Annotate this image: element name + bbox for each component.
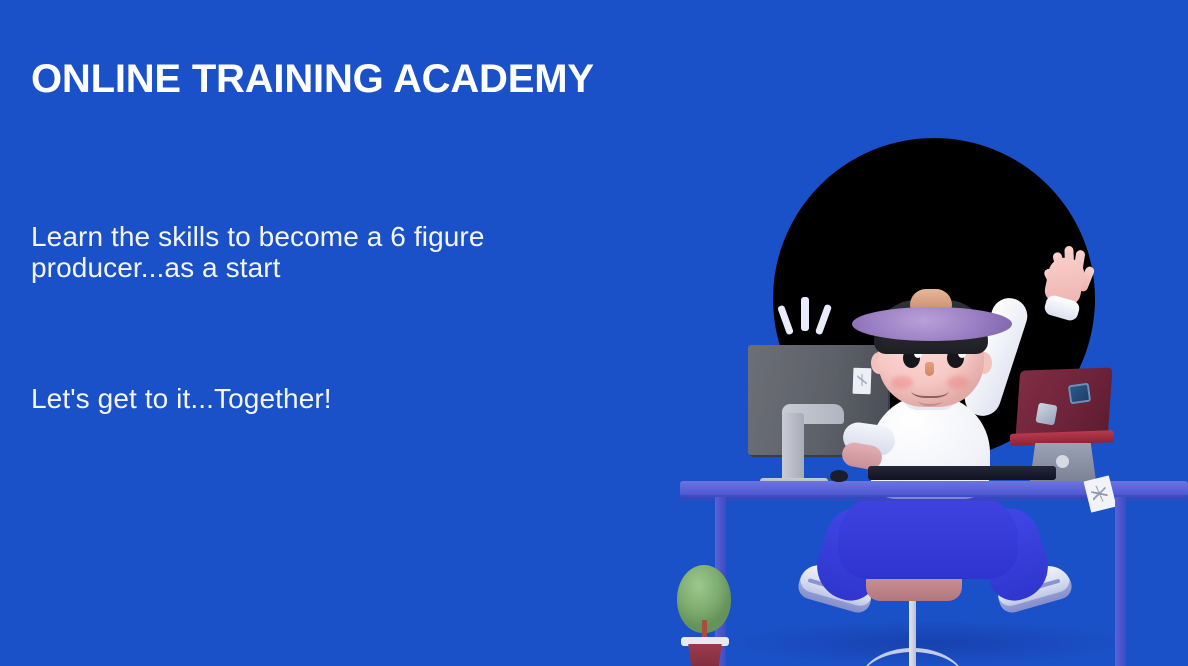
sticky-note [853,368,872,395]
page-title: ONLINE TRAINING ACADEMY [31,56,594,102]
cheek-blush [947,376,969,389]
chair-post [909,600,916,666]
laptop-stand-hole [1056,455,1069,468]
desk-leg [1115,497,1126,666]
laptop-sticker-icon [1035,403,1057,426]
nose [925,362,934,376]
slide-canvas: ONLINE TRAINING ACADEMY Learn the skills… [0,0,1188,666]
pants [838,495,1018,579]
mouse [830,470,848,482]
sparkle-icon [801,297,809,331]
laptop [1015,367,1112,438]
laptop-sticker-icon [1068,383,1091,405]
tagline-text: Let's get to it...Together! [31,383,332,414]
hero-illustration [660,0,1188,666]
hat-brim [852,307,1012,341]
monitor-stand [782,413,804,483]
plant-pot [685,644,725,666]
subheadline-text: Learn the skills to become a 6 figure pr… [31,221,591,283]
keyboard [868,466,1056,480]
cheek-blush [891,376,913,389]
chin-crease [918,396,942,406]
